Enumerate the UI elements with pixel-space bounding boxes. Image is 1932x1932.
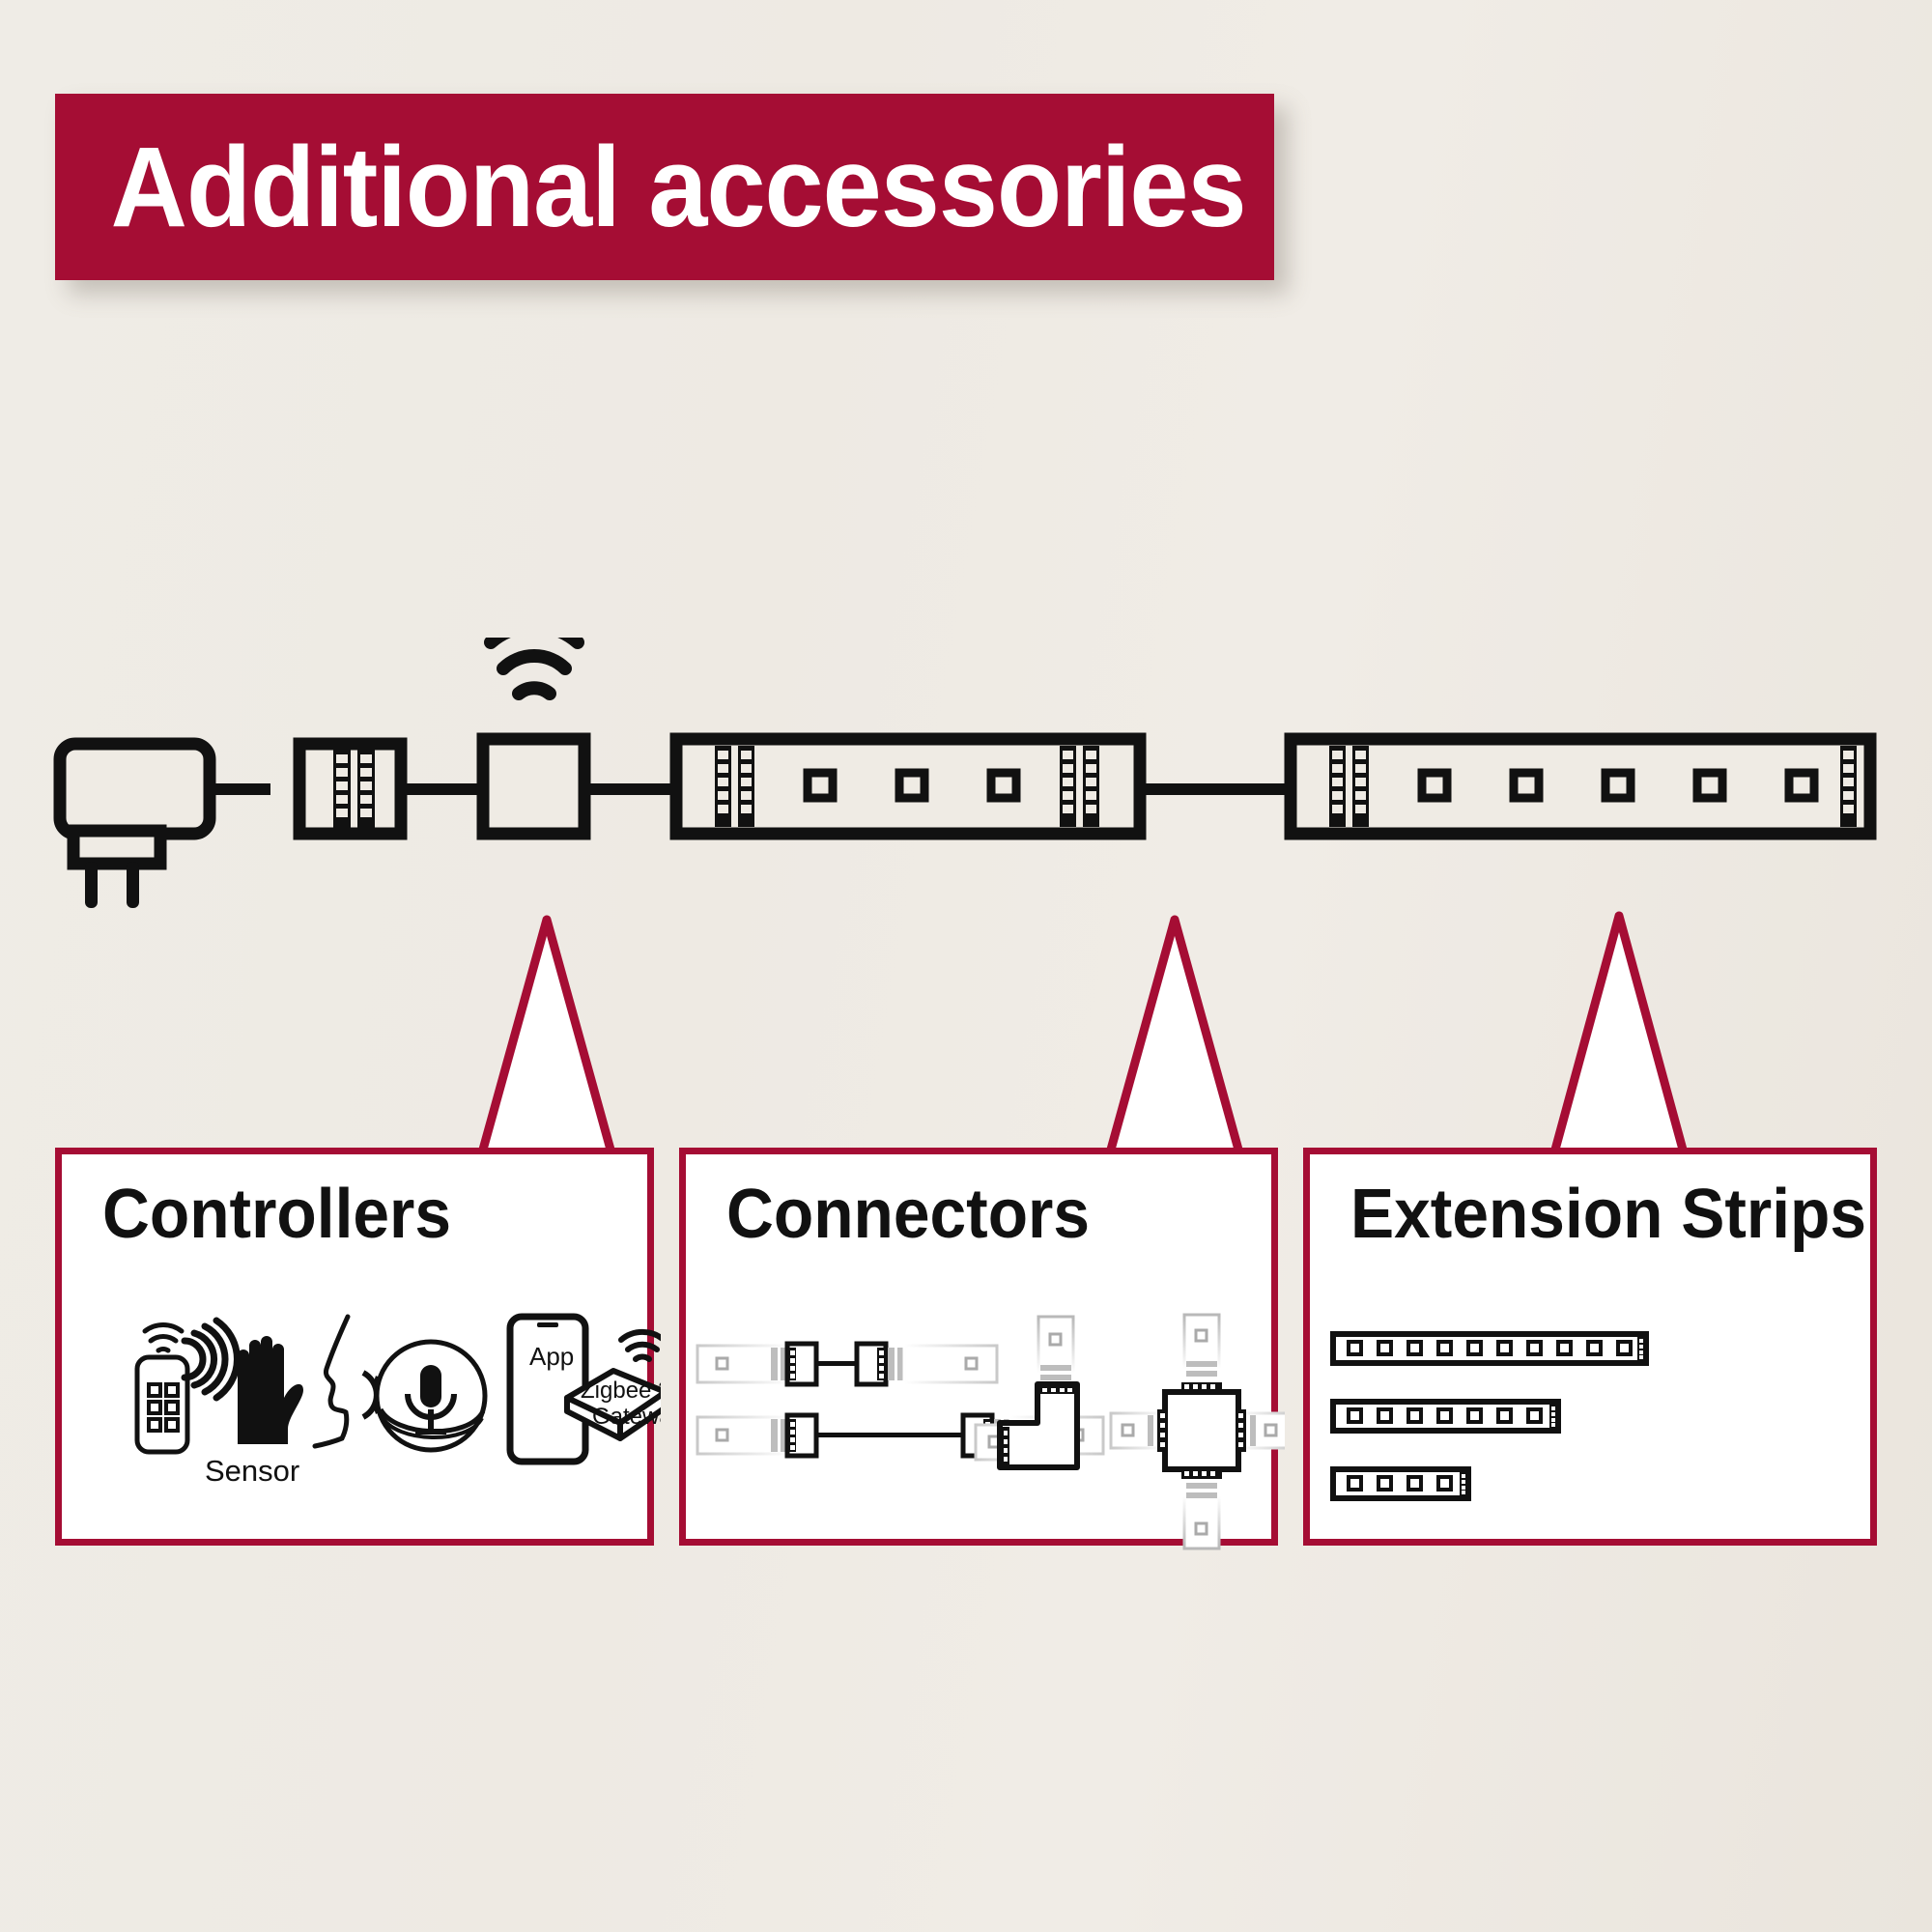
wifi-controller-icon (483, 739, 671, 834)
cross-x-connector-icon (1111, 1315, 1285, 1548)
card-title-extension-strips: Extension Strips (1350, 1179, 1866, 1249)
extension-strip-long-icon (1333, 1334, 1646, 1363)
led-strip-segment-2 (1291, 739, 1870, 834)
zigbee-label-line2: Gateway (592, 1404, 661, 1430)
title-banner: Additional accessories (55, 94, 1274, 280)
smartphone-app-icon (510, 1317, 585, 1462)
motion-sensor-hand-icon (185, 1321, 303, 1444)
card-extension-strips[interactable]: Extension Strips (1303, 1148, 1877, 1546)
card-title-connectors: Connectors (726, 1179, 1090, 1249)
extension-strip-medium-icon (1333, 1402, 1558, 1431)
card-connectors[interactable]: Connectors (679, 1148, 1278, 1546)
corner-l-connector-icon (976, 1317, 1077, 1467)
controllers-icon-row: Sensor (62, 1309, 661, 1552)
voice-assistant-speaker-icon (315, 1317, 485, 1450)
zigbee-label-line1: Zigbee 3.0 (581, 1378, 661, 1404)
callout-spike-extension-strips (1555, 916, 1683, 1159)
strip-connector-icon-1 (299, 744, 484, 834)
remote-control-icon (137, 1324, 187, 1452)
card-controllers[interactable]: Controllers (55, 1148, 654, 1546)
system-diagram (0, 638, 1932, 927)
strip-to-strip-short-cable-connector-icon (697, 1344, 997, 1384)
card-title-controllers: Controllers (102, 1179, 451, 1249)
sensor-label: Sensor (205, 1454, 299, 1488)
led-strip-segment-1 (676, 739, 1293, 834)
app-label: App (529, 1342, 574, 1371)
callout-pointers (0, 898, 1932, 1169)
page-title: Additional accessories (55, 130, 1246, 244)
callout-spike-connectors (1111, 920, 1238, 1159)
power-supply-icon (60, 744, 270, 908)
page-canvas: Additional accessories (0, 0, 1932, 1932)
wifi-icon (491, 638, 578, 694)
extension-strips-icon-group (1310, 1309, 1884, 1552)
extension-strip-short-icon (1333, 1469, 1468, 1498)
callout-spike-controllers (483, 920, 611, 1159)
connectors-icon-row (686, 1309, 1285, 1552)
